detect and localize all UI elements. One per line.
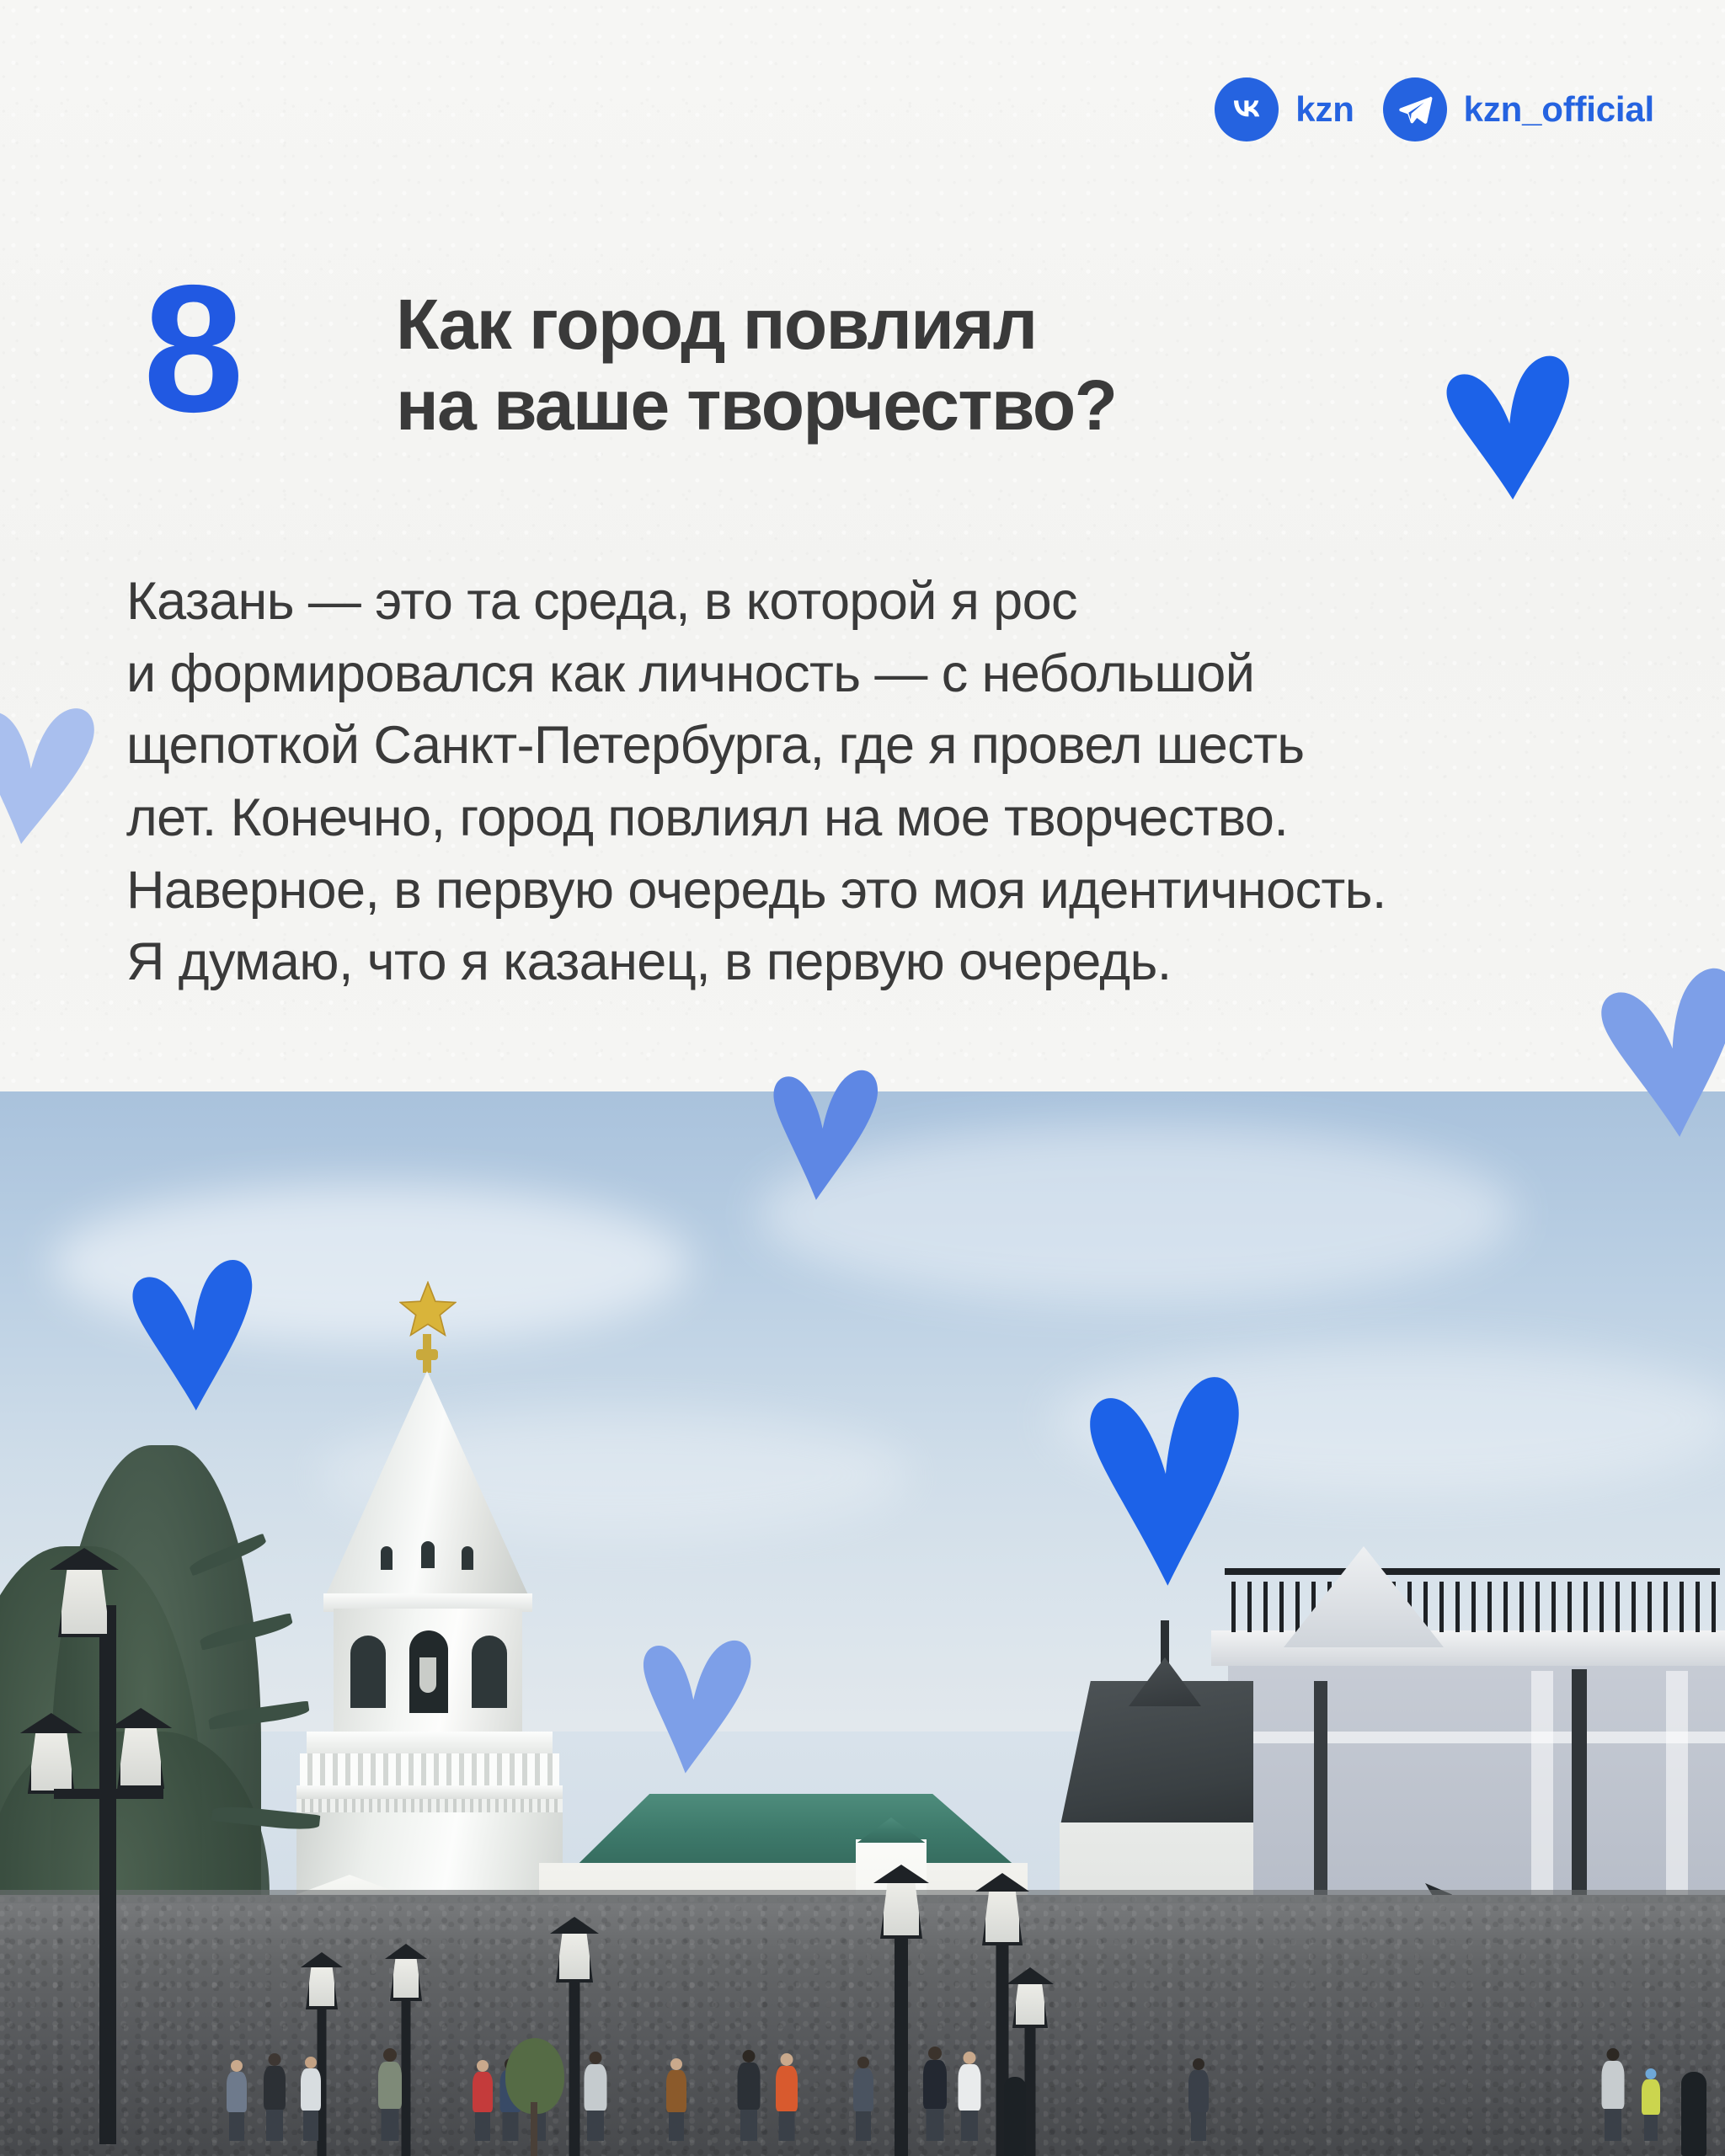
- vk-icon: [1215, 77, 1279, 141]
- telegram-handle: kzn_official: [1464, 92, 1654, 127]
- pedestrian: [263, 2053, 286, 2141]
- gold-star-icon: [399, 1281, 457, 1337]
- tower-finial-ball: [416, 1349, 438, 1360]
- pedestrian: [1188, 2058, 1210, 2141]
- heart-left-edge: [0, 694, 113, 856]
- heart-photo-big: [1064, 1364, 1273, 1600]
- bollard: [1681, 2072, 1706, 2156]
- spire-dormer: [462, 1546, 473, 1570]
- plaza-tree-trunk: [531, 2102, 537, 2156]
- heart-top-right: [1424, 346, 1599, 514]
- pedestrian: [736, 2050, 761, 2141]
- telegram-icon: [1383, 77, 1447, 141]
- pedestrian-child: [1641, 2068, 1661, 2141]
- bell: [419, 1657, 436, 1693]
- question-headline: Как город повлиял на ваше творчество?: [396, 285, 1116, 446]
- question-number: 8: [143, 273, 396, 425]
- pedestrian: [957, 2052, 982, 2141]
- pedestrian: [921, 2047, 948, 2141]
- social-links: kzn kzn_official: [1215, 77, 1654, 141]
- pedestrian: [377, 2048, 403, 2141]
- belfry-arch: [350, 1636, 386, 1708]
- answer-body: Казань — это та среда, в которой я рос и…: [126, 566, 1659, 999]
- tower-balustrade: [300, 1753, 559, 1787]
- railing-top-rail: [1225, 1568, 1720, 1575]
- street-lamp-triple: [49, 1555, 167, 2144]
- neo-cornice: [1211, 1630, 1725, 1666]
- spire-dormer: [381, 1546, 393, 1570]
- pedestrian: [852, 2057, 874, 2141]
- post-card: kzn kzn_official 8 Как город повлиял на …: [0, 0, 1725, 2156]
- heart-photo-center: [622, 1629, 768, 1783]
- pedestrian: [775, 2053, 798, 2141]
- heart-photo-left: [111, 1250, 280, 1422]
- pedestrian: [300, 2057, 322, 2141]
- pedestrian: [1600, 2048, 1626, 2141]
- bollard: [1004, 2077, 1026, 2156]
- neo-belt-course: [1233, 1732, 1725, 1743]
- heart-photo-boundary: [754, 1060, 894, 1208]
- pedestrian: [583, 2052, 608, 2141]
- belfry-arch: [472, 1636, 507, 1708]
- pedestrian: [472, 2060, 494, 2141]
- pedestrian: [665, 2058, 687, 2141]
- vk-handle: kzn: [1295, 92, 1354, 127]
- heart-right-edge: [1575, 955, 1725, 1155]
- green-roof: [546, 1794, 1017, 1868]
- tower-dentils: [296, 1799, 563, 1812]
- question-header: 8 Как город повлиял на ваше творчество?: [143, 285, 1116, 446]
- pedestrian: [226, 2060, 248, 2141]
- spire-dormer: [421, 1541, 435, 1568]
- social-link-vk[interactable]: kzn: [1215, 77, 1354, 141]
- curb-line: [0, 1890, 1725, 1903]
- social-link-telegram[interactable]: kzn_official: [1383, 77, 1654, 141]
